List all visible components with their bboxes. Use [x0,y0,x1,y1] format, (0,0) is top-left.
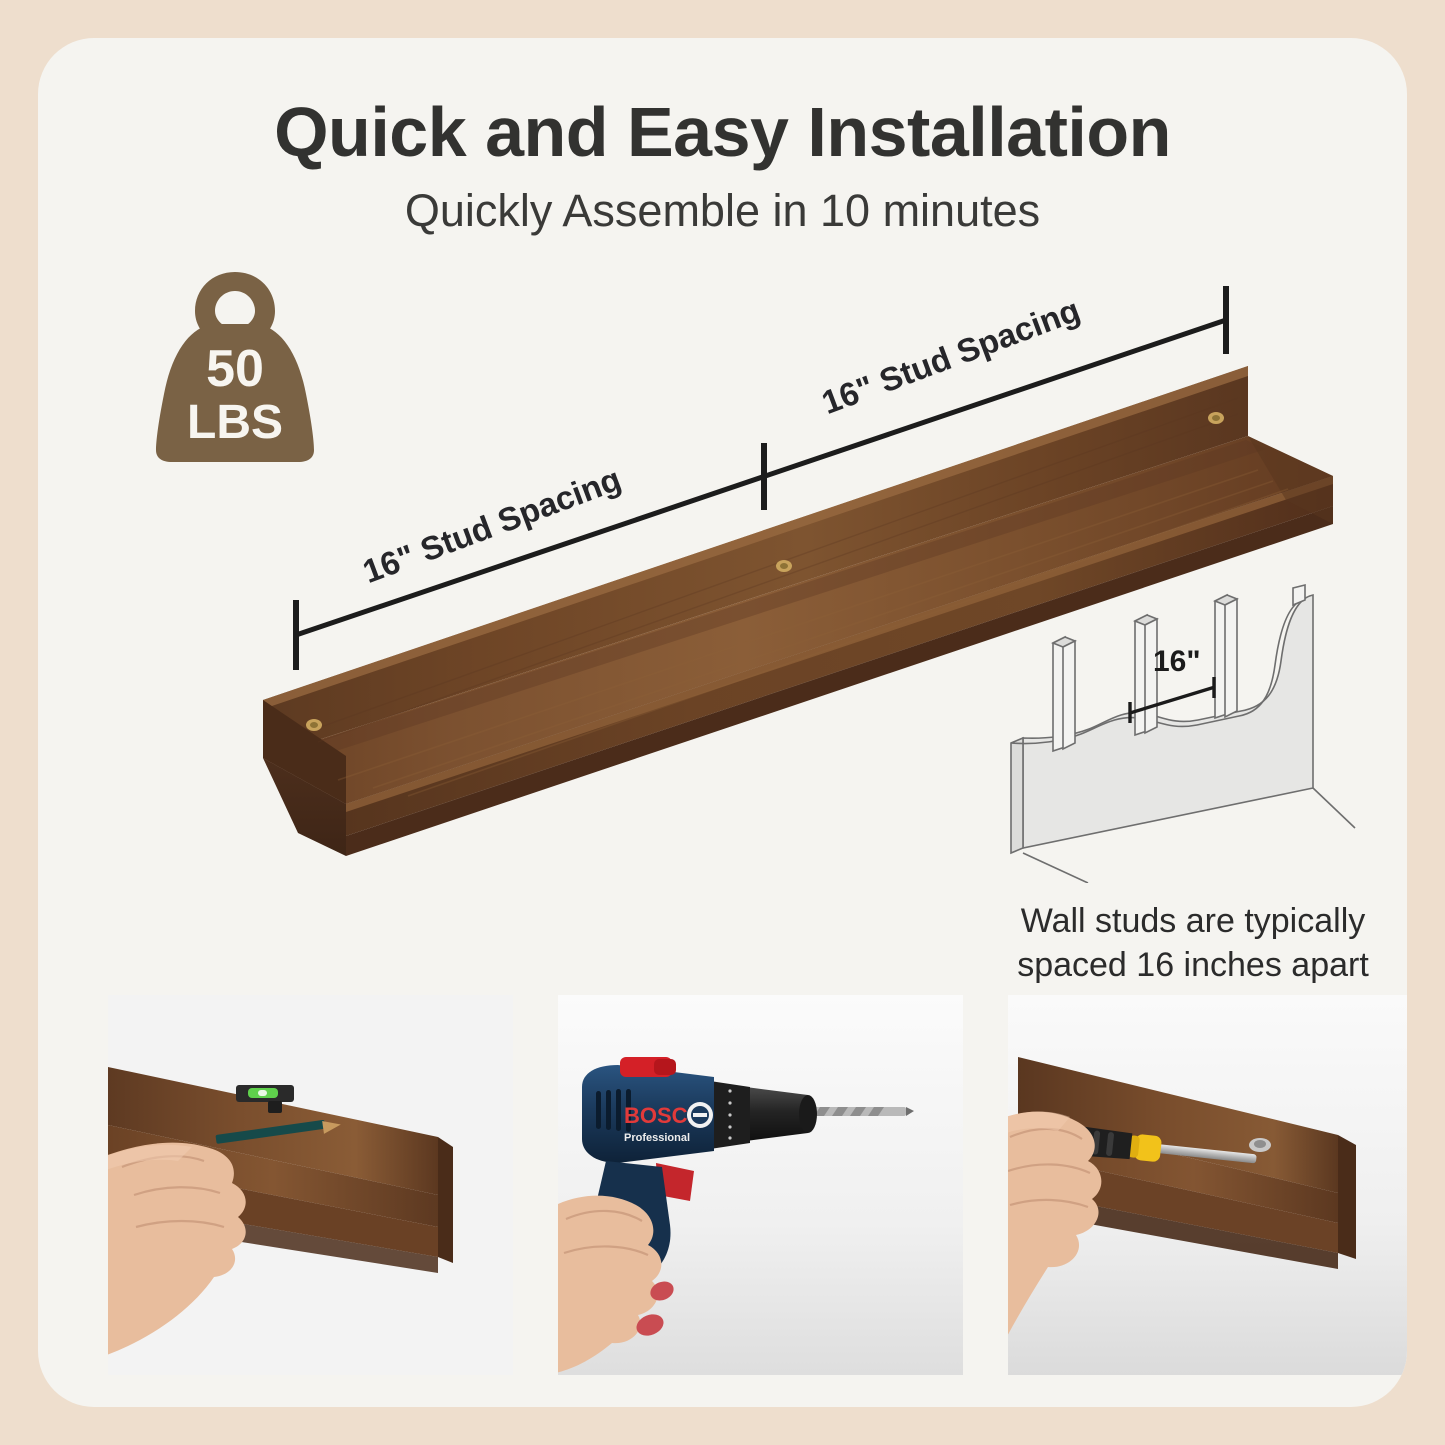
wall-stud [1053,637,1075,751]
drill-clutch-collar [710,1081,750,1149]
drill-bit [810,1107,914,1116]
stud-caption-line-2: spaced 16 inches apart [978,944,1407,988]
install-photo-step-3 [1008,995,1407,1375]
stud-diagram-caption: Wall studs are typically spaced 16 inche… [978,900,1407,987]
drill-chuck [746,1087,817,1141]
screw [1249,1138,1271,1152]
wall-studs-diagram: 16" 16" [993,583,1393,883]
stud-caption-line-1: Wall studs are typically [978,900,1407,944]
install-photo-step-2: BOSCH Professional [558,995,963,1375]
page-subtitle: Quickly Assemble in 10 minutes [38,186,1407,236]
mounting-screw [776,560,792,572]
wall-stud [1215,595,1237,718]
drill-brand-sub: Professional [624,1132,690,1144]
mounting-screw [1208,412,1224,424]
infographic-canvas: Quick and Easy Installation Quickly Asse… [0,0,1445,1445]
content-card: Quick and Easy Installation Quickly Asse… [38,38,1407,1407]
page-title: Quick and Easy Installation [38,96,1407,170]
install-photo-step-1 [108,995,513,1375]
installation-steps-gallery: BOSCH Professional [108,995,1407,1375]
stud-dimension-label: 16" [1153,645,1201,678]
mounting-screw [306,719,322,731]
